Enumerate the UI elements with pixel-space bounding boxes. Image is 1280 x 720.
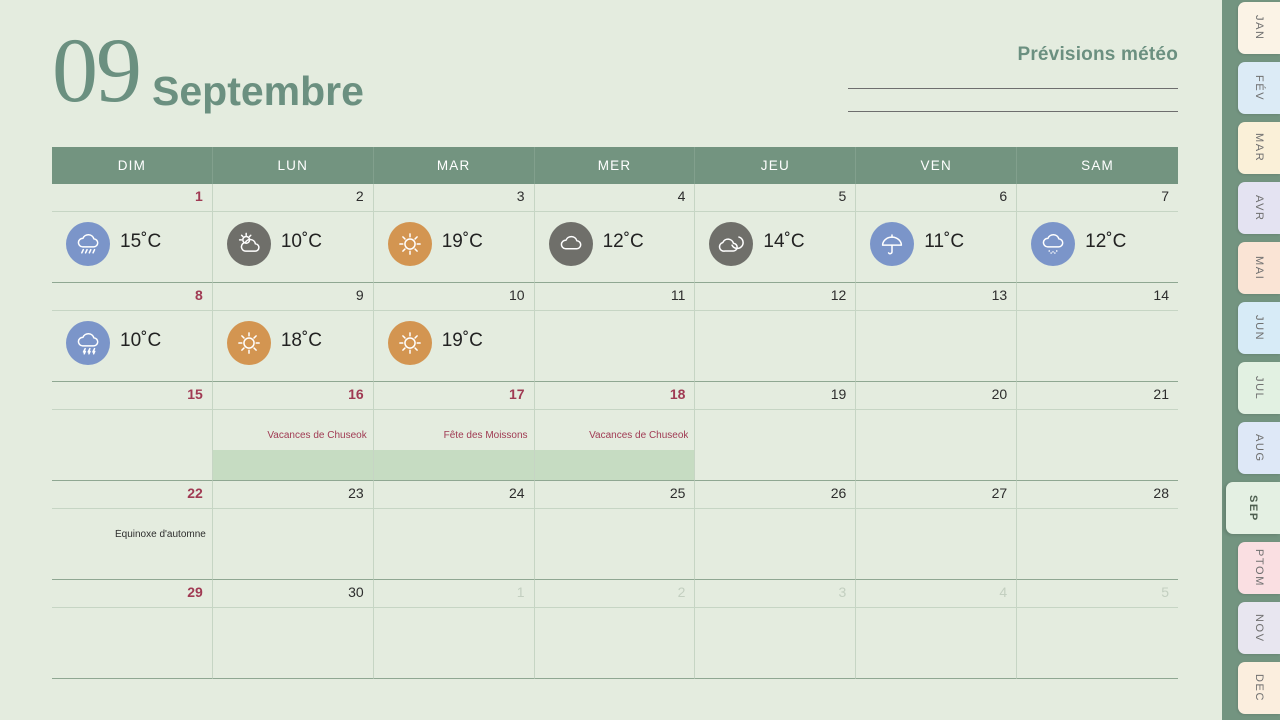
- date-separator: [52, 508, 212, 509]
- day-cell-23[interactable]: 23: [213, 481, 374, 580]
- month-tab-label: PTOM: [1253, 549, 1265, 587]
- date-separator: [213, 607, 373, 608]
- date-separator: [1017, 211, 1178, 212]
- weekday-header-lun: LUN: [213, 147, 374, 184]
- date-number: 28: [1153, 486, 1169, 500]
- date-separator: [695, 508, 855, 509]
- date-separator: [213, 409, 373, 410]
- weather-temperature: 12˚C: [1085, 222, 1126, 254]
- day-event-label[interactable]: Vacances de Chuseok: [217, 430, 367, 442]
- calendar-page: 09 Septembre Prévisions météo DIMLUNMARM…: [0, 0, 1222, 720]
- date-separator: [374, 310, 534, 311]
- date-number: 26: [831, 486, 847, 500]
- sun-icon: [388, 222, 432, 266]
- weather-temperature: 19˚C: [442, 321, 483, 353]
- day-cell-2[interactable]: 2: [535, 580, 696, 679]
- date-number: 8: [195, 288, 203, 302]
- date-separator: [374, 607, 534, 608]
- day-event-label[interactable]: Vacances de Chuseok: [539, 430, 689, 442]
- date-number: 21: [1153, 387, 1169, 401]
- holiday-highlight-band: [213, 450, 373, 480]
- date-separator: [213, 508, 373, 509]
- date-separator: [695, 607, 855, 608]
- date-number: 7: [1161, 189, 1169, 203]
- forecast-note-line-2[interactable]: [848, 111, 1178, 112]
- month-tab-jan[interactable]: JAN: [1238, 2, 1280, 54]
- date-number: 13: [992, 288, 1008, 302]
- month-tab-label: MAR: [1253, 133, 1265, 162]
- month-tab-nov[interactable]: NOV: [1238, 602, 1280, 654]
- date-separator: [52, 409, 212, 410]
- day-cell-4[interactable]: 412˚C: [535, 184, 696, 283]
- date-separator: [535, 310, 695, 311]
- date-separator: [856, 508, 1016, 509]
- month-tab-label: JAN: [1253, 15, 1265, 41]
- day-cell-5[interactable]: 5: [1017, 580, 1178, 679]
- calendar-week-row: 1516Vacances de Chuseok17Fête des Moisso…: [52, 382, 1178, 481]
- day-cell-26[interactable]: 26: [695, 481, 856, 580]
- weather-temperature: 19˚C: [442, 222, 483, 254]
- weekday-header-mar: MAR: [374, 147, 535, 184]
- day-cell-11[interactable]: 11: [535, 283, 696, 382]
- date-number: 4: [678, 189, 686, 203]
- month-tab-aug[interactable]: AUG: [1238, 422, 1280, 474]
- day-cell-2[interactable]: 210˚C: [213, 184, 374, 283]
- date-separator: [52, 310, 212, 311]
- umbrella-icon: [870, 222, 914, 266]
- date-number: 11: [671, 288, 686, 302]
- day-cell-27[interactable]: 27: [856, 481, 1017, 580]
- weather-temperature: 15˚C: [120, 222, 161, 254]
- day-cell-8[interactable]: 810˚C: [52, 283, 213, 382]
- thunderstorm-icon: [66, 321, 110, 365]
- day-cell-5[interactable]: 514˚C: [695, 184, 856, 283]
- sun-behind-cloud-icon: [227, 222, 271, 266]
- day-cell-28[interactable]: 28: [1017, 481, 1178, 580]
- date-number: 17: [509, 387, 525, 401]
- day-cell-7[interactable]: 712˚C: [1017, 184, 1178, 283]
- rain-cloud-icon: [66, 222, 110, 266]
- month-tab-jul[interactable]: JUL: [1238, 362, 1280, 414]
- weather-temperature: 18˚C: [281, 321, 322, 353]
- month-tab-mar[interactable]: MAR: [1238, 122, 1280, 174]
- date-number: 1: [517, 585, 525, 599]
- day-event-label[interactable]: Équinoxe d'automne: [56, 529, 206, 541]
- month-tab-label: JUL: [1253, 376, 1265, 400]
- day-cell-18[interactable]: 18Vacances de Chuseok: [535, 382, 696, 481]
- date-separator: [856, 211, 1016, 212]
- date-number: 14: [1153, 288, 1169, 302]
- moon-behind-cloud-icon: [709, 222, 753, 266]
- day-cell-25[interactable]: 25: [535, 481, 696, 580]
- month-tab-sep[interactable]: SEP: [1226, 482, 1280, 534]
- month-tab-label: MAI: [1253, 256, 1265, 280]
- day-cell-13[interactable]: 13: [856, 283, 1017, 382]
- day-cell-17[interactable]: 17Fête des Moissons: [374, 382, 535, 481]
- day-cell-10[interactable]: 1019˚C: [374, 283, 535, 382]
- weather-temperature: 12˚C: [603, 222, 644, 254]
- holiday-highlight-band: [374, 450, 534, 480]
- weather-temperature: 10˚C: [120, 321, 161, 353]
- weather-entry[interactable]: 15˚C: [66, 222, 206, 266]
- date-separator: [374, 409, 534, 410]
- date-separator: [1017, 409, 1178, 410]
- date-number: 19: [831, 387, 847, 401]
- date-number: 24: [509, 486, 525, 500]
- snow-cloud-icon: [1031, 222, 1075, 266]
- page-header: 09 Septembre Prévisions météo: [52, 24, 1178, 134]
- day-cell-3[interactable]: 3: [695, 580, 856, 679]
- weekday-header-jeu: JEU: [695, 147, 856, 184]
- date-number: 3: [517, 189, 525, 203]
- day-cell-21[interactable]: 21: [1017, 382, 1178, 481]
- day-cell-4[interactable]: 4: [856, 580, 1017, 679]
- date-separator: [52, 607, 212, 608]
- title-block: 09 Septembre: [52, 24, 364, 116]
- date-number: 6: [999, 189, 1007, 203]
- day-cell-3[interactable]: 319˚C: [374, 184, 535, 283]
- weekday-header-row: DIMLUNMARMERJEUVENSAM: [52, 147, 1178, 184]
- date-separator: [374, 211, 534, 212]
- date-number: 5: [1161, 585, 1169, 599]
- calendar-week-row: 293012345: [52, 580, 1178, 679]
- date-number: 2: [678, 585, 686, 599]
- calendar-week-row: 22Équinoxe d'automne232425262728: [52, 481, 1178, 580]
- weather-temperature: 14˚C: [763, 222, 804, 254]
- day-event-label[interactable]: Fête des Moissons: [378, 430, 528, 442]
- month-tab-label: JUN: [1253, 315, 1265, 341]
- weather-entry[interactable]: 11˚C: [870, 222, 1010, 266]
- date-separator: [695, 409, 855, 410]
- date-separator: [1017, 607, 1178, 608]
- cloud-icon: [549, 222, 593, 266]
- weather-entry[interactable]: 19˚C: [388, 321, 528, 365]
- date-number: 10: [509, 288, 525, 302]
- day-cell-16[interactable]: 16Vacances de Chuseok: [213, 382, 374, 481]
- date-number: 5: [838, 189, 846, 203]
- date-number: 12: [831, 288, 847, 302]
- date-separator: [535, 607, 695, 608]
- weather-entry[interactable]: 10˚C: [66, 321, 206, 365]
- day-cell-22[interactable]: 22Équinoxe d'automne: [52, 481, 213, 580]
- calendar-week-row: 810˚C918˚C1019˚C11121314: [52, 283, 1178, 382]
- day-cell-6[interactable]: 611˚C: [856, 184, 1017, 283]
- date-number: 20: [992, 387, 1008, 401]
- month-tab-label: DEC: [1253, 674, 1265, 702]
- weather-temperature: 10˚C: [281, 222, 322, 254]
- date-separator: [213, 211, 373, 212]
- weather-entry[interactable]: 14˚C: [709, 222, 849, 266]
- weekday-header-sam: SAM: [1017, 147, 1178, 184]
- forecast-note-line-1[interactable]: [848, 88, 1178, 89]
- forecast-title: Prévisions météo: [848, 44, 1178, 66]
- month-tab-ptom[interactable]: PTOM: [1238, 542, 1280, 594]
- date-number: 9: [356, 288, 364, 302]
- day-cell-15[interactable]: 15: [52, 382, 213, 481]
- date-separator: [1017, 310, 1178, 311]
- date-number: 16: [348, 387, 364, 401]
- date-number: 25: [670, 486, 686, 500]
- date-number: 30: [348, 585, 364, 599]
- date-number: 1: [195, 189, 203, 203]
- month-name: Septembre: [152, 68, 364, 115]
- date-number: 22: [187, 486, 203, 500]
- month-tab-dec[interactable]: DEC: [1238, 662, 1280, 714]
- date-separator: [213, 310, 373, 311]
- weekday-header-ven: VEN: [856, 147, 1017, 184]
- weekday-header-dim: DIM: [52, 147, 213, 184]
- month-tab-strip: JANFÉVMARAVRMAIJUNJULAUGSEPPTOMNOVDEC: [1222, 0, 1280, 720]
- month-tab-avr[interactable]: AVR: [1238, 182, 1280, 234]
- month-tab-label: SEP: [1247, 495, 1259, 522]
- date-number: 29: [187, 585, 203, 599]
- day-cell-1[interactable]: 115˚C: [52, 184, 213, 283]
- month-tab-mai[interactable]: MAI: [1238, 242, 1280, 294]
- day-cell-9[interactable]: 918˚C: [213, 283, 374, 382]
- weather-entry[interactable]: 10˚C: [227, 222, 367, 266]
- weather-entry[interactable]: 18˚C: [227, 321, 367, 365]
- date-number: 23: [348, 486, 364, 500]
- day-cell-19[interactable]: 19: [695, 382, 856, 481]
- date-separator: [535, 508, 695, 509]
- date-separator: [856, 310, 1016, 311]
- weather-entry[interactable]: 12˚C: [1031, 222, 1172, 266]
- month-tab-jun[interactable]: JUN: [1238, 302, 1280, 354]
- calendar-week-row: 115˚C210˚C319˚C412˚C514˚C611˚C712˚C: [52, 184, 1178, 283]
- date-separator: [695, 310, 855, 311]
- month-tab-label: AUG: [1253, 434, 1265, 463]
- day-cell-24[interactable]: 24: [374, 481, 535, 580]
- date-separator: [52, 211, 212, 212]
- date-number: 27: [992, 486, 1008, 500]
- day-cell-12[interactable]: 12: [695, 283, 856, 382]
- day-cell-14[interactable]: 14: [1017, 283, 1178, 382]
- month-tab-fév[interactable]: FÉV: [1238, 62, 1280, 114]
- sun-icon: [388, 321, 432, 365]
- date-number: 15: [187, 387, 203, 401]
- date-number: 4: [999, 585, 1007, 599]
- date-separator: [856, 409, 1016, 410]
- day-cell-29[interactable]: 29: [52, 580, 213, 679]
- month-tab-label: FÉV: [1253, 75, 1265, 101]
- sun-icon: [227, 321, 271, 365]
- month-tab-label: NOV: [1253, 614, 1265, 643]
- date-separator: [374, 508, 534, 509]
- day-cell-1[interactable]: 1: [374, 580, 535, 679]
- date-number: 18: [670, 387, 686, 401]
- day-cell-20[interactable]: 20: [856, 382, 1017, 481]
- month-number: 09: [52, 24, 140, 116]
- date-separator: [695, 211, 855, 212]
- weather-temperature: 11˚C: [924, 222, 964, 254]
- weather-entry[interactable]: 12˚C: [549, 222, 689, 266]
- month-tab-label: AVR: [1253, 195, 1265, 222]
- date-separator: [535, 409, 695, 410]
- date-number: 2: [356, 189, 364, 203]
- weather-forecast-block: Prévisions météo: [848, 44, 1178, 112]
- date-number: 3: [838, 585, 846, 599]
- day-cell-30[interactable]: 30: [213, 580, 374, 679]
- holiday-highlight-band: [535, 450, 695, 480]
- calendar-grid: DIMLUNMARMERJEUVENSAM 115˚C210˚C319˚C412…: [52, 147, 1178, 679]
- weekday-header-mer: MER: [535, 147, 696, 184]
- date-separator: [1017, 508, 1178, 509]
- weather-entry[interactable]: 19˚C: [388, 222, 528, 266]
- date-separator: [856, 607, 1016, 608]
- date-separator: [535, 211, 695, 212]
- calendar-weeks: 115˚C210˚C319˚C412˚C514˚C611˚C712˚C810˚C…: [52, 184, 1178, 679]
